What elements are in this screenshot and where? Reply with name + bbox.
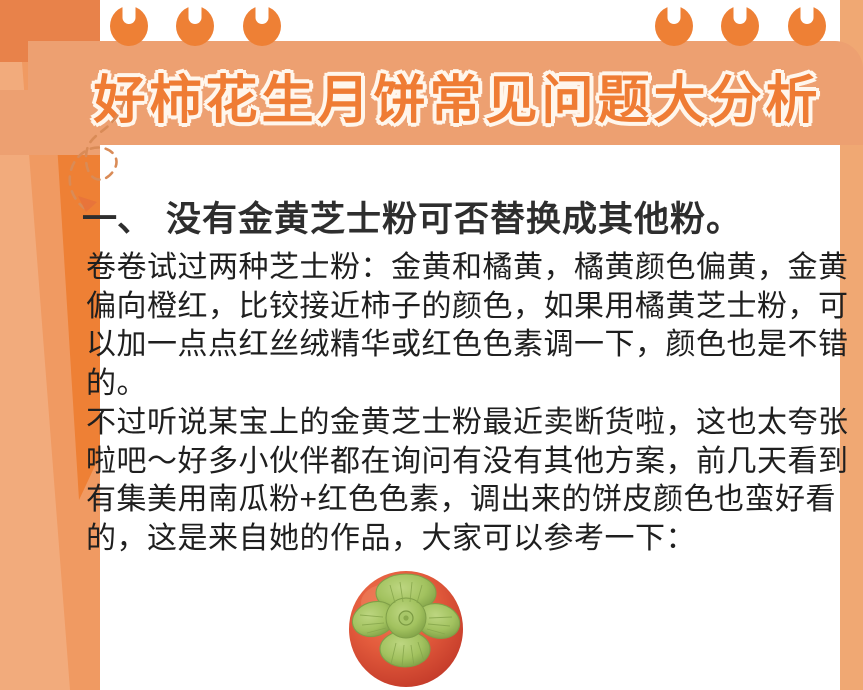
paragraph: 卷卷试过两种芝士粉：金黄和橘黄，橘黄颜色偏黄，金黄偏向橙红，比铰接近柿子的颜色，… (86, 249, 851, 403)
paragraph: 不过听说某宝上的金黄芝士粉最近卖断货啦，这也太夸张啦吧～好多小伙伴都在询问有没有… (86, 404, 851, 558)
dashed-curved-arrow-icon (52, 96, 182, 226)
section-heading: 一、没有金黄芝士粉可否替换成其他粉。 (82, 191, 842, 242)
spiral-binding-right (655, 6, 850, 52)
spiral-ring-icon (721, 6, 759, 46)
spiral-ring-icon (788, 6, 826, 46)
spiral-ring-icon (176, 6, 214, 46)
spiral-ring-icon (110, 6, 148, 46)
article-content: 一、没有金黄芝士粉可否替换成其他粉。 卷卷试过两种芝士粉：金黄和橘黄，橘黄颜色偏… (100, 145, 840, 690)
spiral-ring-icon (655, 6, 693, 46)
persimmon-mooncake-photo (343, 563, 469, 690)
section-heading-text: 没有金黄芝士粉可否替换成其他粉。 (166, 200, 742, 239)
page-root: 好柿花生月饼常见问题大分析 一、没有金黄芝士粉可否替换成其他粉。 卷卷试过两种芝… (0, 0, 863, 690)
spiral-binding-left (110, 6, 305, 52)
spiral-ring-icon (243, 6, 281, 46)
section-body: 卷卷试过两种芝士粉：金黄和橘黄，橘黄颜色偏黄，金黄偏向橙红，比铰接近柿子的颜色，… (86, 249, 851, 558)
